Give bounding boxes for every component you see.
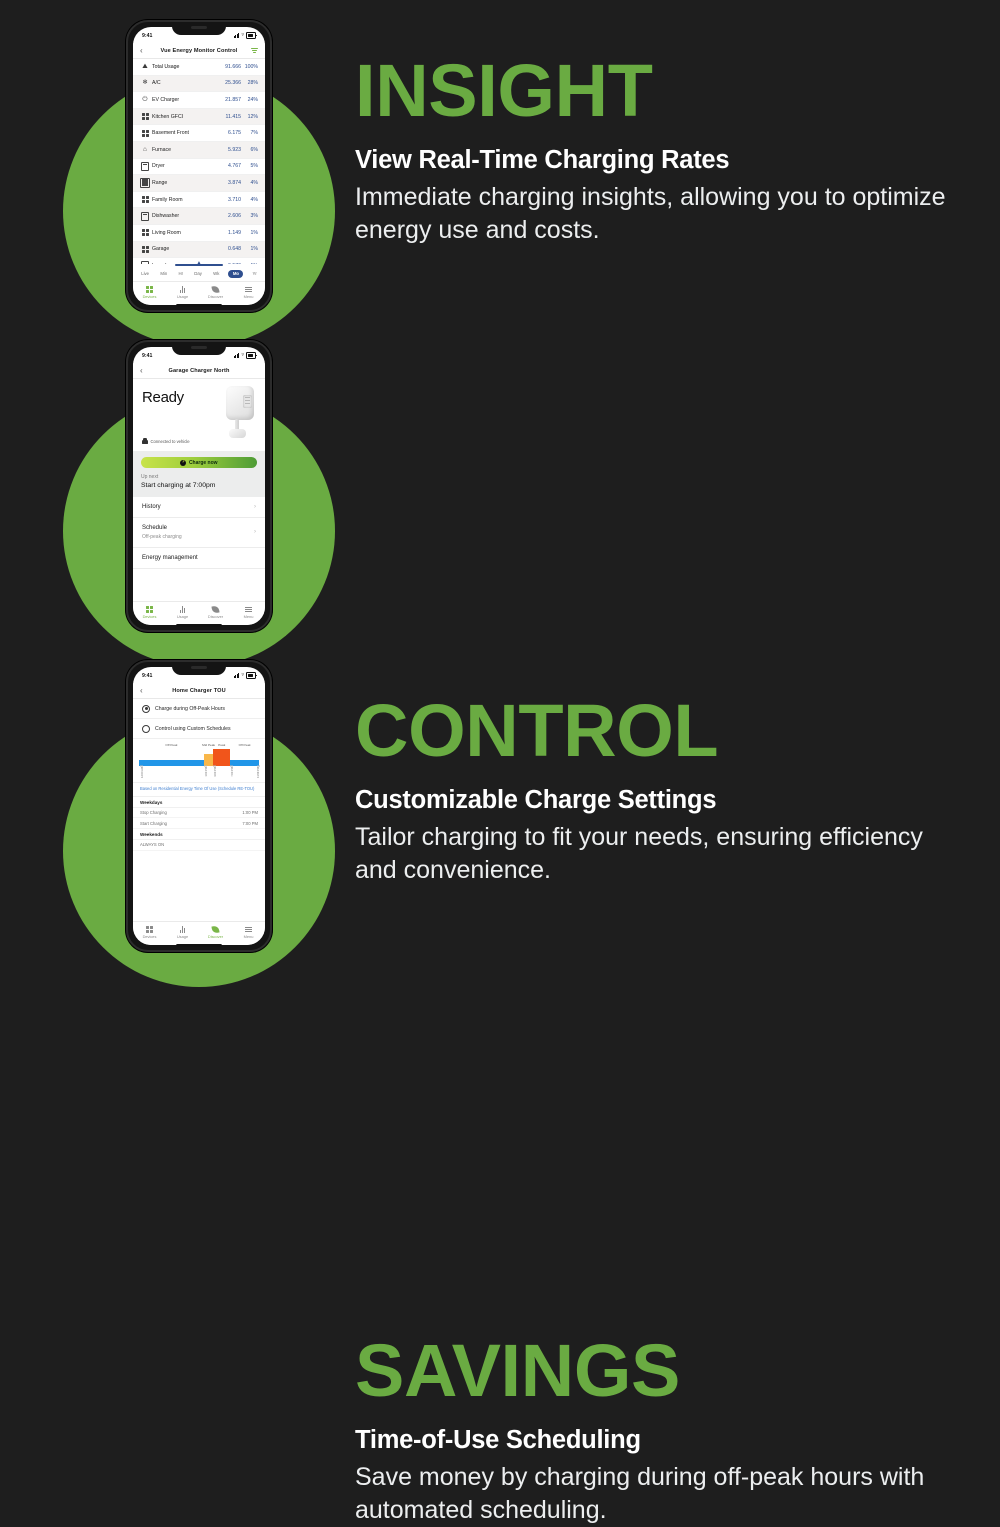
feature-description: Immediate charging insights, allowing yo… [355, 181, 955, 247]
tab-devices[interactable]: Devices [137, 925, 163, 939]
band-label-offpeak-1: Off Peak [165, 743, 177, 747]
phone-screen: 9:41 ▿ ‹ Garage Charger North Ready [133, 347, 265, 625]
tou-settings-body: Charge during Off-Peak Hours Control usi… [133, 699, 265, 921]
home-indicator [176, 304, 222, 307]
tab-label: Discover [208, 294, 223, 299]
device-name: Total Usage [150, 64, 219, 70]
device-name: Dishwasher [150, 213, 219, 219]
band-label-midpeak: Mid Peak [202, 743, 215, 747]
outlet-icon [140, 130, 150, 137]
grid-icon [146, 925, 153, 933]
feature-subhead: View Real-Time Charging Rates [355, 146, 955, 175]
feature-description: Save money by charging during off-peak h… [355, 1461, 955, 1527]
pill-min[interactable]: Min [158, 270, 169, 278]
home-indicator [176, 624, 222, 627]
table-row[interactable]: Kitchen GFCI 11.415 12% [133, 109, 265, 126]
pill-yr[interactable]: Yr [250, 270, 259, 278]
option-off-peak[interactable]: Charge during Off-Peak Hours [133, 699, 265, 719]
feature-block-savings: 9:41 ▿ ‹ Home Charger TOU Charge d [0, 660, 1000, 980]
tou-segment-peak [213, 749, 230, 766]
furnace-icon: ⌂ [140, 147, 150, 154]
device-percent: 7% [241, 130, 258, 136]
phone-screen: 9:41 ▿ ‹ Home Charger TOU Charge d [133, 667, 265, 945]
feature-text-insight: INSIGHT View Real-Time Charging Rates Im… [355, 56, 955, 247]
wifi-icon: ▿ [241, 33, 244, 38]
table-row[interactable]: Dryer 4.767 5% [133, 159, 265, 176]
table-row[interactable]: ⛰ Total Usage 91.666 100% [133, 59, 265, 76]
list-item-subtitle: Off-peak charging [142, 534, 256, 540]
charger-detail-body: Ready Connected to vehicle [133, 379, 265, 601]
phone-notch [172, 662, 226, 675]
bottom-tab-bar[interactable]: Devices Usage Discover Menu [133, 281, 265, 305]
tab-label: Usage [177, 294, 188, 299]
page-title: Garage Charger North [148, 368, 250, 374]
tab-label: Discover [208, 614, 223, 619]
device-percent: 12% [241, 114, 258, 120]
tou-band-labels: Off Peak Mid Peak Peak Off Peak [139, 743, 259, 748]
phone-notch [172, 22, 226, 35]
schedule-value: 7:00 PM [242, 821, 258, 826]
filter-icon[interactable] [250, 48, 258, 52]
device-value: 1.149 [219, 230, 241, 236]
app-navbar: ‹ Garage Charger North [133, 363, 265, 379]
tick-label-3: 7:00 PM [231, 767, 234, 777]
tou-segment-offpeak-1 [139, 760, 204, 766]
pill-day[interactable]: Day [192, 270, 204, 278]
promo-page: 9:41 ▿ ‹ Vue Energy Monitor Control ⛰ [0, 0, 1000, 1000]
device-name: Family Room [150, 197, 219, 203]
device-value: 91.666 [219, 64, 241, 70]
tou-note: Based on Residential Energy Time Of Use … [133, 783, 265, 797]
status-bar-time: 9:41 [142, 353, 152, 359]
content-filler [133, 569, 265, 602]
device-value: 21.857 [219, 97, 241, 103]
device-percent: 28% [241, 80, 258, 86]
option-label: Control using Custom Schedules [155, 726, 231, 732]
leaf-icon [212, 925, 219, 933]
menu-icon [245, 605, 252, 613]
outlet-icon [140, 229, 150, 236]
chevron-right-icon: › [254, 529, 256, 535]
schedule-row-start-charging: Start Charging 7:00 PM [133, 818, 265, 829]
device-name: Furnace [150, 147, 219, 153]
device-usage-list[interactable]: ⛰ Total Usage 91.666 100% ❄ A/C 25.366 2… [133, 59, 265, 264]
battery-icon [246, 32, 256, 38]
tou-segment-offpeak-2 [230, 760, 259, 766]
feature-text-savings: SAVINGS Time-of-Use Scheduling Save mone… [355, 1336, 955, 1527]
app-navbar: ‹ Home Charger TOU [133, 683, 265, 699]
phone-screen: 9:41 ▿ ‹ Vue Energy Monitor Control ⛰ [133, 27, 265, 305]
signal-icon [234, 353, 240, 358]
charge-now-label: Charge now [189, 460, 218, 466]
status-bar-icons: ▿ [234, 352, 256, 358]
tou-bar-track [139, 749, 259, 766]
device-value: 0.648 [219, 246, 241, 252]
device-value: 25.366 [219, 80, 241, 86]
device-value: 3.874 [219, 180, 241, 186]
table-row[interactable]: Range 3.874 4% [133, 175, 265, 192]
table-row[interactable]: ⌂ Furnace 5.923 6% [133, 142, 265, 159]
tab-usage[interactable]: Usage [170, 925, 196, 939]
list-item-title: Energy management [142, 555, 256, 561]
outlet-icon [140, 196, 150, 203]
tou-segment-midpeak [204, 754, 214, 766]
dishwasher-icon [140, 212, 150, 221]
snowflake-icon: ❄ [140, 80, 150, 87]
pill-live[interactable]: Live [139, 270, 151, 278]
tab-label: Devices [143, 614, 157, 619]
wifi-icon: ▿ [241, 353, 244, 358]
car-icon [142, 440, 148, 444]
tab-label: Menu [244, 614, 254, 619]
connected-status: Connected to vehicle [142, 439, 190, 444]
ev-charger-icon: ⏻ [140, 97, 150, 104]
feature-block-insight: 9:41 ▿ ‹ Vue Energy Monitor Control ⛰ [0, 20, 1000, 340]
phone-notch [172, 342, 226, 355]
feature-block-control: 9:41 ▿ ‹ Garage Charger North Ready [0, 340, 1000, 660]
list-item-schedule[interactable]: Schedule Off-peak charging › [133, 518, 265, 548]
battery-icon [246, 352, 256, 358]
device-percent: 4% [241, 180, 258, 186]
battery-icon [246, 672, 256, 678]
tou-axis-ticks: 12:00 AM 1:00 PM 3:00 PM 7:00 PM 11:59 P… [139, 767, 259, 779]
option-custom-schedule[interactable]: Control using Custom Schedules [133, 719, 265, 739]
signal-icon [234, 673, 240, 678]
status-bar-time: 9:41 [142, 673, 152, 679]
home-indicator [176, 944, 222, 947]
schedule-row-stop-charging: Stop Charging 1:00 PM [133, 808, 265, 819]
tab-label: Devices [143, 934, 157, 939]
bottom-tab-bar[interactable]: Devices Usage Discover Menu [133, 921, 265, 945]
menu-icon [245, 285, 252, 293]
device-percent: 100% [241, 64, 258, 70]
feature-kicker: INSIGHT [355, 56, 955, 126]
tab-devices[interactable]: Devices [137, 605, 163, 619]
device-name: Living Room [150, 230, 219, 236]
time-range-pills[interactable]: Live Min Hr Day Wk Mo Yr [133, 267, 265, 281]
range-icon [140, 178, 150, 188]
tick-label-4: 11:59 PM [257, 767, 260, 778]
phone-mockup-control: 9:41 ▿ ‹ Garage Charger North Ready [126, 340, 272, 632]
leaf-icon [212, 285, 219, 293]
status-bar-icons: ▿ [234, 672, 256, 678]
device-name: Garage [150, 246, 219, 252]
tab-label: Usage [177, 934, 188, 939]
device-percent: 5% [241, 163, 258, 169]
tab-discover[interactable]: Discover [203, 285, 229, 299]
device-value: 5.923 [219, 147, 241, 153]
device-name: A/C [150, 80, 219, 86]
tick-label-1: 1:00 PM [205, 767, 208, 777]
bottom-tab-bar[interactable]: Devices Usage Discover Menu [133, 601, 265, 625]
status-bar-icons: ▿ [234, 32, 256, 38]
radio-selected-icon[interactable] [142, 705, 150, 713]
schedule-value: 1:00 PM [242, 810, 258, 815]
tab-label: Discover [208, 934, 223, 939]
tab-label: Menu [244, 294, 254, 299]
tab-menu[interactable]: Menu [236, 605, 262, 619]
device-value: 11.415 [219, 114, 241, 120]
pill-mo[interactable]: Mo [228, 270, 243, 278]
phone-mockup-savings: 9:41 ▿ ‹ Home Charger TOU Charge d [126, 660, 272, 952]
schedule-header-weekdays: Weekdays [133, 797, 265, 808]
menu-icon [245, 925, 252, 933]
band-label-peak: Peak [218, 743, 225, 747]
tab-discover[interactable]: Discover [203, 925, 229, 939]
list-item-title: Schedule [142, 525, 256, 531]
device-name: Basement Front [150, 130, 219, 136]
table-row[interactable]: ⏻ EV Charger 21.857 24% [133, 92, 265, 109]
tou-chart: Off Peak Mid Peak Peak Off Peak [133, 739, 265, 783]
up-next-value: Start charging at 7:00pm [141, 482, 257, 489]
tab-discover[interactable]: Discover [203, 605, 229, 619]
phone-mockup-insight: 9:41 ▿ ‹ Vue Energy Monitor Control ⛰ [126, 20, 272, 312]
device-name: Range [150, 180, 219, 186]
content-filler [133, 851, 265, 921]
back-button[interactable]: ‹ [140, 47, 148, 55]
list-item-history[interactable]: History › [133, 497, 265, 518]
page-title: Home Charger TOU [148, 688, 250, 694]
device-value: 2.606 [219, 213, 241, 219]
tab-menu[interactable]: Menu [236, 285, 262, 299]
outlet-icon [140, 113, 150, 120]
signal-icon [234, 33, 240, 38]
pill-wk[interactable]: Wk [211, 270, 222, 278]
back-button[interactable]: ‹ [140, 367, 148, 375]
tab-usage[interactable]: Usage [170, 285, 196, 299]
device-name: Kitchen GFCI [150, 114, 219, 120]
tab-label: Devices [143, 294, 157, 299]
device-percent: 4% [241, 197, 258, 203]
option-label: Charge during Off-Peak Hours [155, 706, 225, 712]
pill-hr[interactable]: Hr [176, 270, 185, 278]
schedule-label: Stop Charging [140, 810, 167, 815]
tab-menu[interactable]: Menu [236, 925, 262, 939]
charger-illustration [223, 386, 257, 438]
bars-icon [180, 285, 186, 293]
app-navbar: ‹ Vue Energy Monitor Control [133, 43, 265, 59]
list-item-energy-management[interactable]: Energy management [133, 548, 265, 569]
grid-icon [146, 605, 153, 613]
bars-icon [180, 925, 186, 933]
feature-kicker: SAVINGS [355, 1336, 955, 1406]
tick-label-2: 3:00 PM [214, 767, 217, 777]
leaf-icon [212, 605, 219, 613]
page-title: Vue Energy Monitor Control [148, 48, 250, 54]
tab-usage[interactable]: Usage [170, 605, 196, 619]
bars-icon [180, 605, 186, 613]
bolt-icon: ⚡ [180, 460, 186, 466]
list-item-title: History [142, 504, 256, 510]
schedule-row-weekend: ALWAYS ON [133, 840, 265, 851]
chevron-right-icon: › [254, 504, 256, 510]
dryer-icon [140, 162, 150, 171]
tab-label: Usage [177, 614, 188, 619]
device-percent: 24% [241, 97, 258, 103]
table-row[interactable]: Dishwasher 2.606 3% [133, 208, 265, 225]
device-name: Dryer [150, 163, 219, 169]
tab-label: Menu [244, 934, 254, 939]
table-row[interactable]: Garage 0.648 1% [133, 242, 265, 259]
home-tree-icon: ⛰ [140, 64, 150, 71]
device-percent: 1% [241, 246, 258, 252]
schedule-label: ALWAYS ON [140, 842, 164, 847]
device-percent: 3% [241, 213, 258, 219]
wifi-icon: ▿ [241, 673, 244, 678]
device-value: 3.710 [219, 197, 241, 203]
charge-now-button[interactable]: ⚡ Charge now [141, 457, 257, 468]
up-next-label: Up next [141, 474, 257, 480]
device-value: 4.767 [219, 163, 241, 169]
schedule-label: Start Charging [140, 821, 167, 826]
outlet-icon [140, 246, 150, 253]
connected-label: Connected to vehicle [151, 439, 190, 444]
back-button[interactable]: ‹ [140, 687, 148, 695]
table-row[interactable]: Basement Front 6.175 7% [133, 125, 265, 142]
tab-devices[interactable]: Devices [137, 285, 163, 299]
schedule-header-weekends: Weekends [133, 829, 265, 840]
table-row[interactable]: Family Room 3.710 4% [133, 192, 265, 209]
charge-action-panel: ⚡ Charge now Up next Start charging at 7… [133, 451, 265, 497]
scroll-indicator[interactable]: ▲ [133, 264, 265, 267]
tick-label-0: 12:00 AM [141, 767, 144, 778]
band-label-offpeak-2: Off Peak [239, 743, 251, 747]
device-name: EV Charger [150, 97, 219, 103]
device-percent: 1% [241, 230, 258, 236]
radio-unselected-icon[interactable] [142, 725, 150, 733]
table-row[interactable]: Living Room 1.149 1% [133, 225, 265, 242]
table-row[interactable]: ❄ A/C 25.366 28% [133, 76, 265, 93]
device-value: 6.175 [219, 130, 241, 136]
device-percent: 6% [241, 147, 258, 153]
grid-icon [146, 285, 153, 293]
status-bar-time: 9:41 [142, 33, 152, 39]
feature-subhead: Time-of-Use Scheduling [355, 1426, 955, 1455]
charger-hero: Ready Connected to vehicle [133, 379, 265, 451]
